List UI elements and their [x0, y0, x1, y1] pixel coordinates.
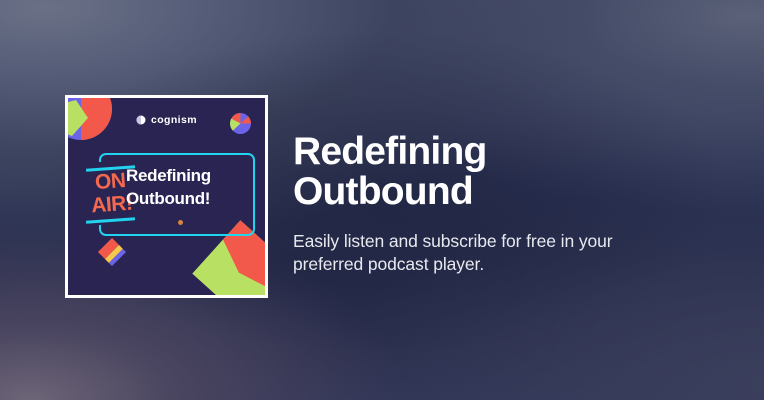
cognism-circle-icon [136, 115, 146, 125]
podcast-cover-art[interactable]: cognism ON AIR! Redefining O [65, 95, 268, 298]
headline-line-1: Redefining [293, 130, 487, 173]
cover-art-title-line-2: Outbound! [126, 189, 210, 208]
cognism-logo: cognism [68, 114, 265, 126]
bottom-left-diamond-shape [98, 238, 126, 266]
on-air-rule-bottom [86, 217, 135, 223]
cover-art-title-line-1: Redefining [126, 166, 211, 185]
promo-text-block: Redefining Outbound Easily listen and su… [293, 132, 693, 276]
banner-content: cognism ON AIR! Redefining O [0, 0, 764, 400]
cognism-logo-text: cognism [151, 114, 197, 126]
headline-line-2: Outbound [293, 172, 693, 212]
cover-art-accent-dot [178, 220, 183, 225]
promo-subtitle: Easily listen and subscribe for free in … [293, 230, 649, 276]
cover-art-canvas: cognism ON AIR! Redefining O [68, 98, 265, 295]
cover-art-title: Redefining Outbound! [126, 164, 248, 210]
on-air-line-1: ON [94, 169, 126, 194]
podcast-promo-banner: cognism ON AIR! Redefining O [0, 0, 764, 400]
page-title: Redefining Outbound [293, 132, 693, 212]
